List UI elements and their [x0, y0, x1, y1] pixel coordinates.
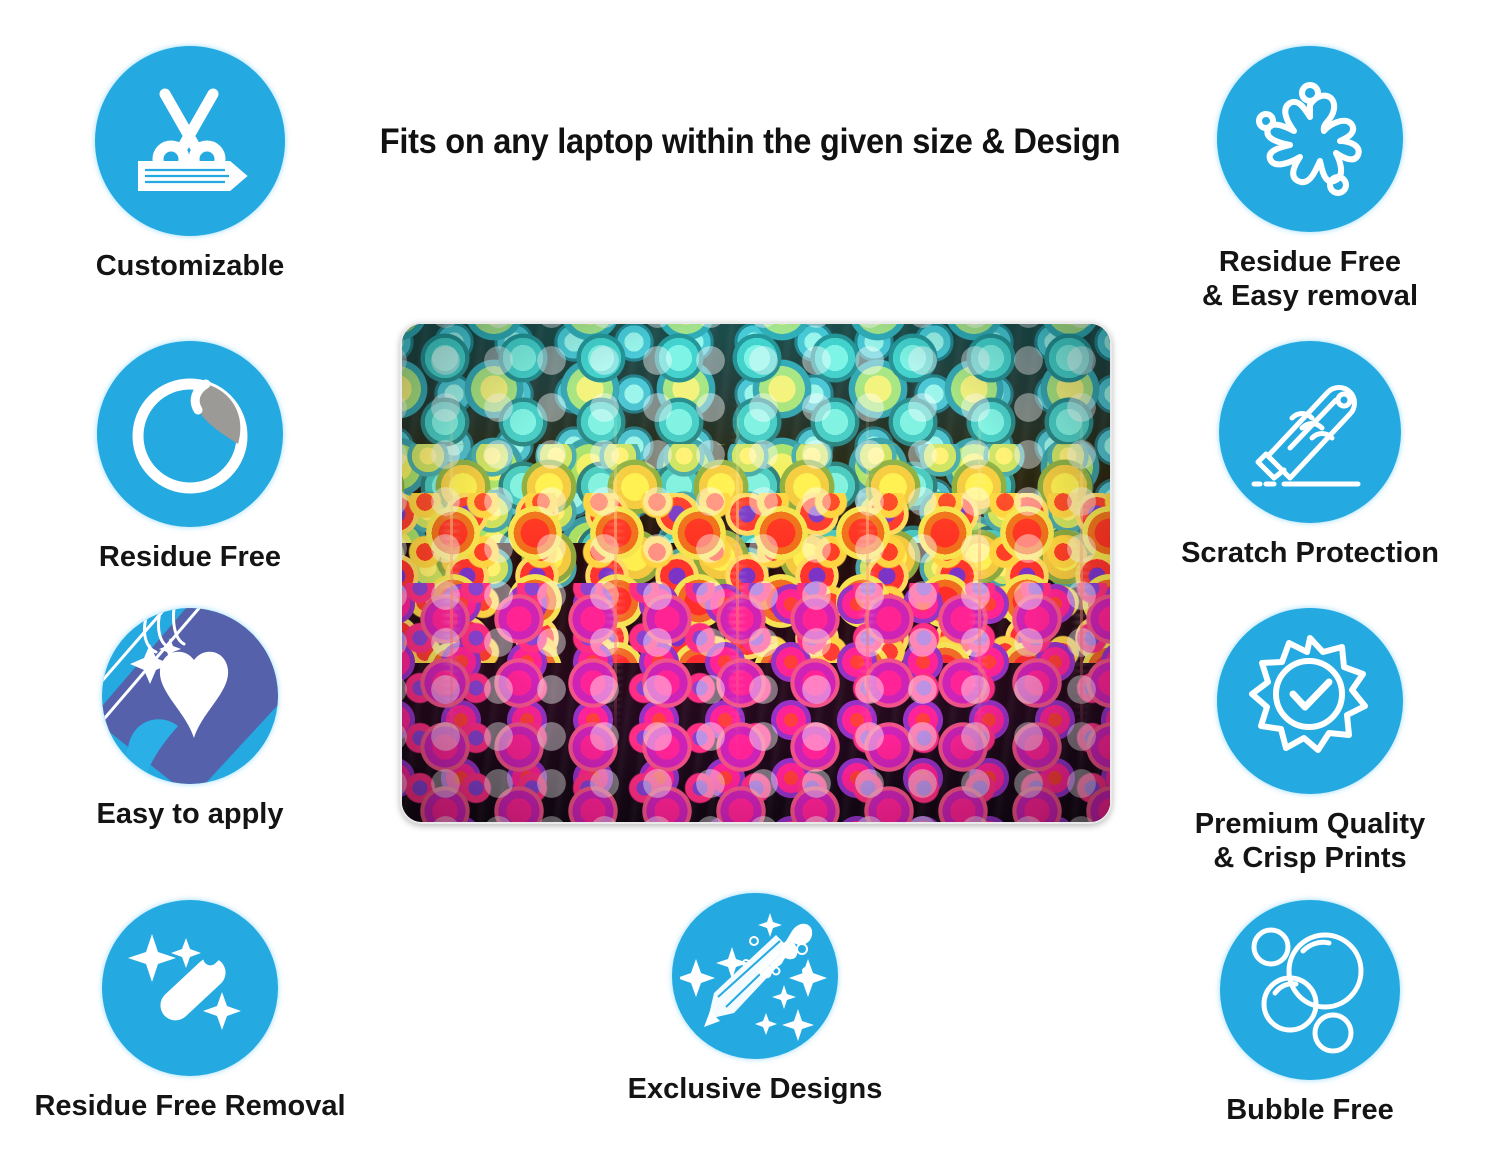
feature-label: Residue Free & Easy removal [1202, 246, 1418, 313]
feature-premium-quality: Premium Quality & Crisp Prints [1120, 608, 1500, 875]
feature-scratch-protection: Scratch Protection [1120, 341, 1500, 571]
magic-wand-sparkle-icon [102, 900, 278, 1076]
feature-residue-free: Residue Free [0, 341, 380, 575]
hand-applying-decal-icon [102, 608, 278, 784]
page-title: Fits on any laptop within the given size… [369, 122, 1132, 162]
paint-splat-icon [1217, 46, 1403, 232]
laptop-skin-preview [400, 322, 1112, 824]
feature-label: Customizable [96, 250, 285, 284]
feature-label: Residue Free [99, 541, 281, 575]
pencil-sparkle-butterfly-icon [672, 893, 838, 1059]
bubbles-icon [1220, 900, 1400, 1080]
utility-knife-icon [1219, 341, 1401, 523]
quality-badge-check-icon [1217, 608, 1403, 794]
feature-label: Exclusive Designs [628, 1073, 883, 1107]
feature-label: Bubble Free [1226, 1094, 1394, 1128]
feature-easy-to-apply: Easy to apply [0, 608, 380, 832]
feature-residue-free-removal: Residue Free Removal [0, 900, 380, 1124]
feature-label: Residue Free Removal [34, 1090, 345, 1124]
feature-exclusive-designs: Exclusive Designs [595, 893, 915, 1107]
feature-label: Premium Quality & Crisp Prints [1195, 808, 1425, 875]
feature-residue-free-easy-removal: Residue Free & Easy removal [1120, 46, 1500, 313]
feature-label: Scratch Protection [1181, 537, 1439, 571]
skin-artwork [402, 324, 1110, 822]
feature-label: Easy to apply [97, 798, 284, 832]
feature-bubble-free: Bubble Free [1120, 900, 1500, 1128]
scissors-pencil-icon [95, 46, 285, 236]
peeling-sticker-icon [97, 341, 283, 527]
feature-customizable: Customizable [0, 46, 380, 284]
